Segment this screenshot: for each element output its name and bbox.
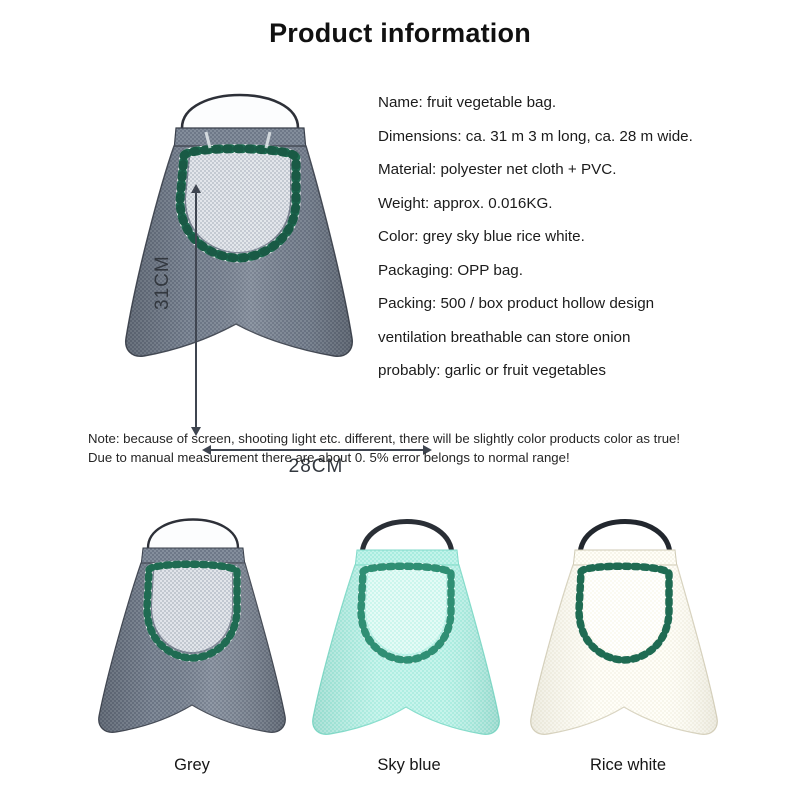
spec-line-packaging: Packaging: OPP bag. bbox=[378, 254, 778, 288]
variant-sky-blue[interactable]: Sky blue bbox=[286, 498, 526, 798]
variant-bag-illustration-sky-blue bbox=[300, 498, 512, 748]
note-line-screen: Note: because of screen, shooting light … bbox=[88, 430, 728, 449]
color-variant-row: Grey bbox=[0, 498, 800, 798]
variant-bag-illustration-rice-white bbox=[518, 498, 730, 748]
hero-product-image: 31CM 28CM bbox=[86, 66, 366, 411]
bag-opening bbox=[186, 152, 290, 252]
spec-line-packing: Packing: 500 / box product hollow design bbox=[378, 287, 778, 321]
note-block: Note: because of screen, shooting light … bbox=[88, 430, 728, 467]
spec-line-usage: probably: garlic or fruit vegetables bbox=[378, 354, 778, 388]
variant-label-grey: Grey bbox=[72, 756, 312, 775]
variant-label-rice-white: Rice white bbox=[504, 756, 744, 775]
spec-line-name: Name: fruit vegetable bag. bbox=[378, 86, 778, 120]
height-dimension-label: 31CM bbox=[152, 255, 174, 310]
spec-line-weight: Weight: approx. 0.016KG. bbox=[378, 187, 778, 221]
product-information-page: Product information bbox=[0, 0, 800, 800]
spec-line-color: Color: grey sky blue rice white. bbox=[378, 220, 778, 254]
variant-rice-white[interactable]: Rice white bbox=[504, 498, 744, 798]
spec-line-material: Material: polyester net cloth + PVC. bbox=[378, 153, 778, 187]
note-line-measurement: Due to manual measurement there are abou… bbox=[88, 449, 728, 468]
spec-line-dimensions: Dimensions: ca. 31 m 3 m long, ca. 28 m … bbox=[378, 120, 778, 154]
variant-grey[interactable]: Grey bbox=[72, 498, 312, 798]
spec-line-ventilation: ventilation breathable can store onion bbox=[378, 321, 778, 355]
specification-list: Name: fruit vegetable bag. Dimensions: c… bbox=[378, 86, 778, 388]
height-dimension-arrow bbox=[195, 192, 197, 428]
variant-bag-illustration-grey bbox=[86, 498, 298, 748]
variant-label-sky-blue: Sky blue bbox=[286, 756, 526, 775]
page-title: Product information bbox=[0, 18, 800, 49]
hero-bag-illustration bbox=[110, 66, 366, 378]
